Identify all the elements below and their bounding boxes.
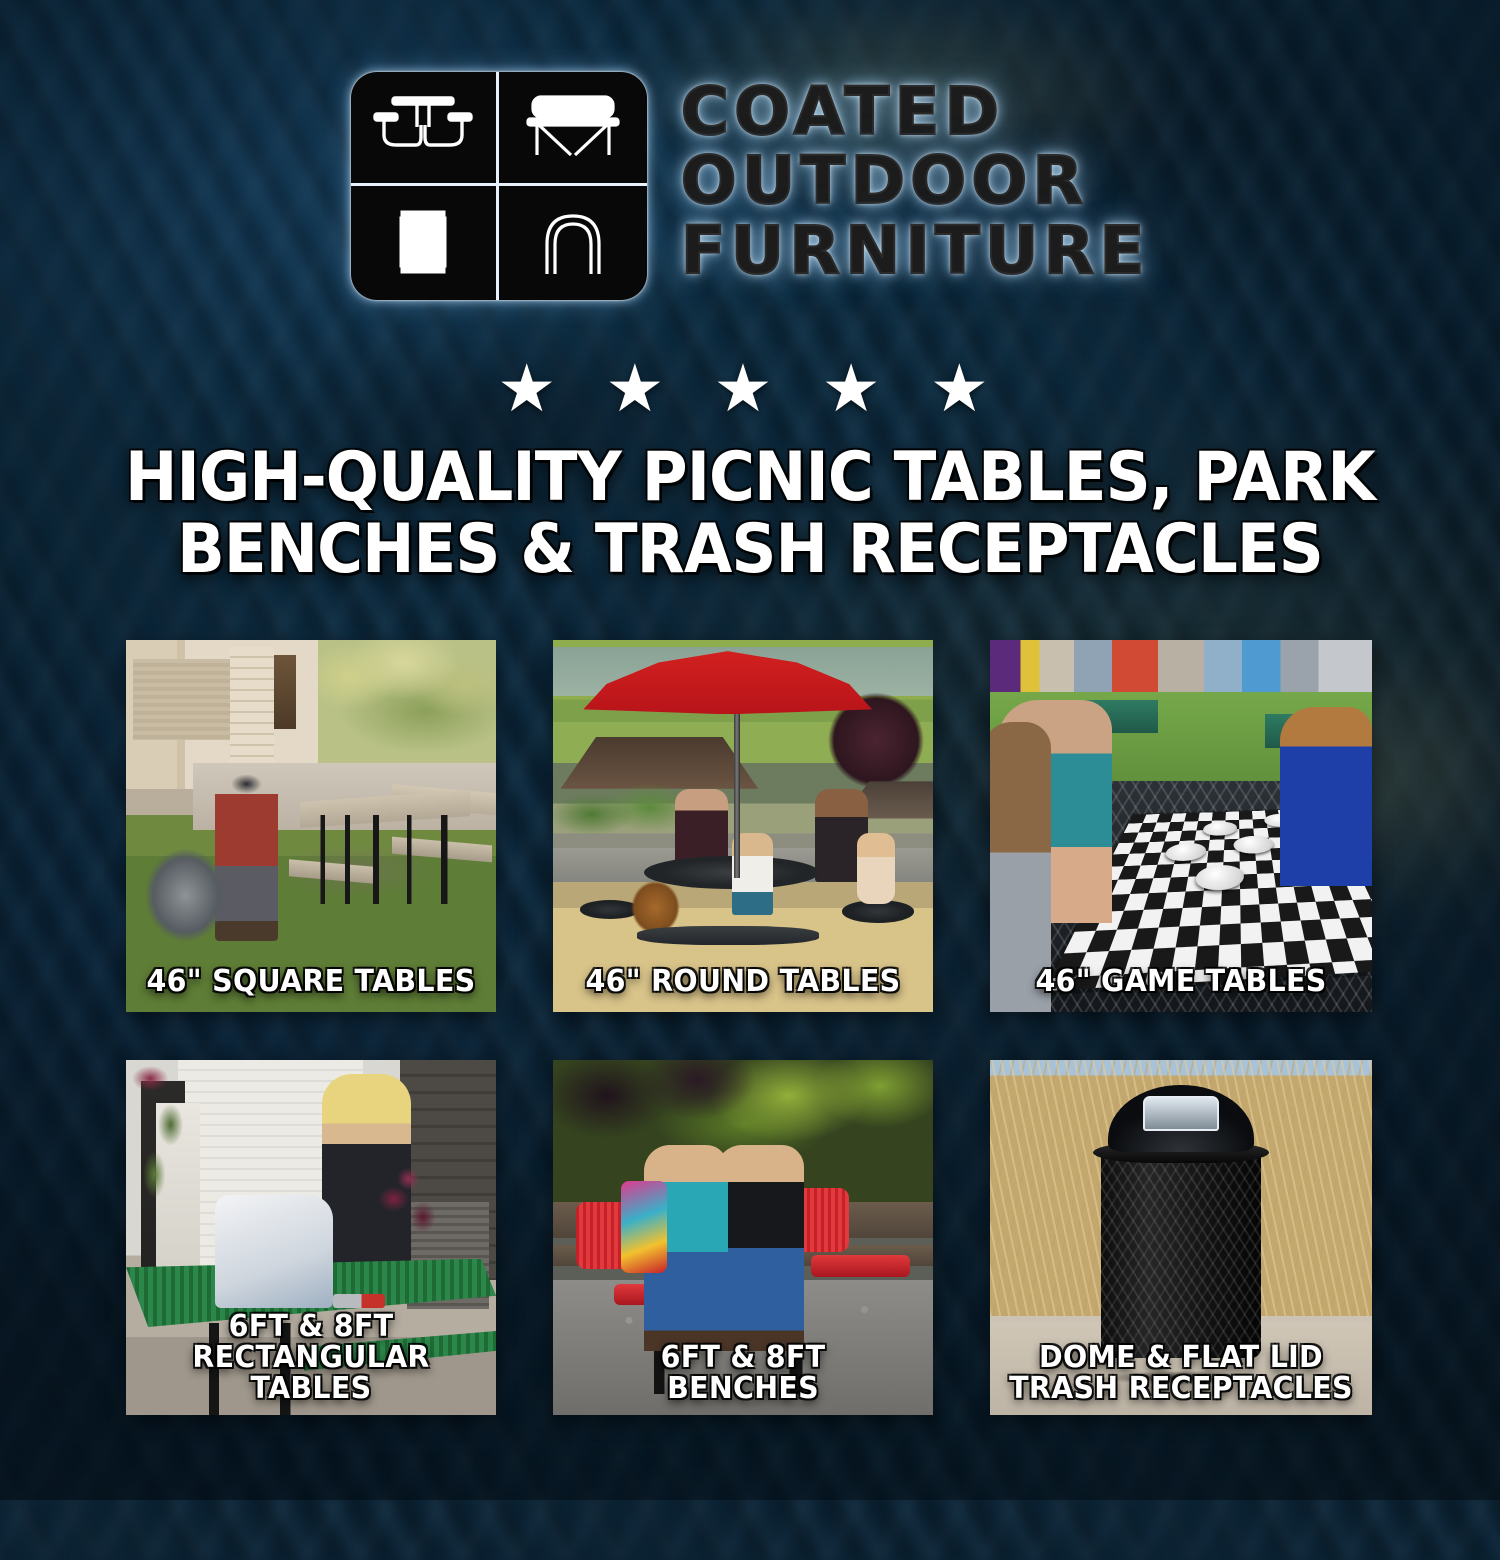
product-caption-game-tables: 46" GAME TABLES	[1005, 967, 1357, 998]
product-tile-rectangular-tables[interactable]: 6FT & 8FT RECTANGULAR TABLES	[126, 1060, 496, 1415]
wordmark-line-1: COATED	[681, 78, 1150, 145]
product-tile-game-tables[interactable]: 46" GAME TABLES	[990, 640, 1372, 1012]
wordmark-line-2: OUTDOOR	[681, 147, 1150, 214]
product-photo-round-tables	[553, 640, 933, 1012]
headline-line-1: HIGH-QUALITY PICNIC TABLES, PARK	[125, 438, 1375, 517]
product-photo-square-tables	[126, 640, 496, 1012]
product-caption-square-tables: 46" SQUARE TABLES	[141, 967, 481, 998]
caption-line-1: DOME & FLAT LID	[1005, 1343, 1357, 1374]
product-caption-trash-receptacles: DOME & FLAT LID TRASH RECEPTACLES	[1005, 1343, 1357, 1405]
caption-line-2: BENCHES	[568, 1374, 918, 1405]
caption-line-1: 6FT & 8FT	[568, 1343, 918, 1374]
caption-line-1: 6FT & 8FT	[141, 1312, 481, 1343]
product-grid: 46" SQUARE TABLES 46" ROUND TABLES	[126, 640, 1376, 1415]
product-photo-game-tables	[990, 640, 1372, 1012]
caption-line-1: 46" GAME TABLES	[1005, 967, 1357, 998]
bench-table-side-icon	[499, 72, 647, 186]
product-tile-benches[interactable]: 6FT & 8FT BENCHES	[553, 1060, 933, 1415]
product-caption-benches: 6FT & 8FT BENCHES	[568, 1343, 918, 1405]
bike-rack-arch-icon	[499, 186, 647, 300]
product-caption-rectangular-tables: 6FT & 8FT RECTANGULAR TABLES	[141, 1312, 481, 1405]
caption-line-1: 46" SQUARE TABLES	[141, 967, 481, 998]
brand-wordmark: COATED OUTDOOR FURNITURE	[681, 72, 1150, 284]
page-title: HIGH-QUALITY PICNIC TABLES, PARK BENCHES…	[115, 442, 1385, 586]
coated-outdoor-furniture-logo	[351, 72, 647, 300]
caption-line-2: RECTANGULAR TABLES	[141, 1343, 481, 1405]
trash-receptacle-icon	[351, 186, 499, 300]
wordmark-line-3: FURNITURE	[681, 217, 1150, 284]
product-tile-trash-receptacles[interactable]: DOME & FLAT LID TRASH RECEPTACLES	[990, 1060, 1372, 1415]
star-rating: ★ ★ ★ ★ ★	[0, 356, 1500, 422]
caption-line-2: TRASH RECEPTACLES	[1005, 1374, 1357, 1405]
promo-banner: COATED OUTDOOR FURNITURE ★ ★ ★ ★ ★ HIGH-…	[0, 0, 1500, 1500]
product-tile-square-tables[interactable]: 46" SQUARE TABLES	[126, 640, 496, 1012]
caption-line-1: 46" ROUND TABLES	[568, 967, 918, 998]
headline-line-2: BENCHES & TRASH RECEPTACLES	[115, 514, 1385, 586]
product-tile-round-tables[interactable]: 46" ROUND TABLES	[553, 640, 933, 1012]
product-caption-round-tables: 46" ROUND TABLES	[568, 967, 918, 998]
brand-header: COATED OUTDOOR FURNITURE	[0, 72, 1500, 300]
picnic-table-icon	[351, 72, 499, 186]
